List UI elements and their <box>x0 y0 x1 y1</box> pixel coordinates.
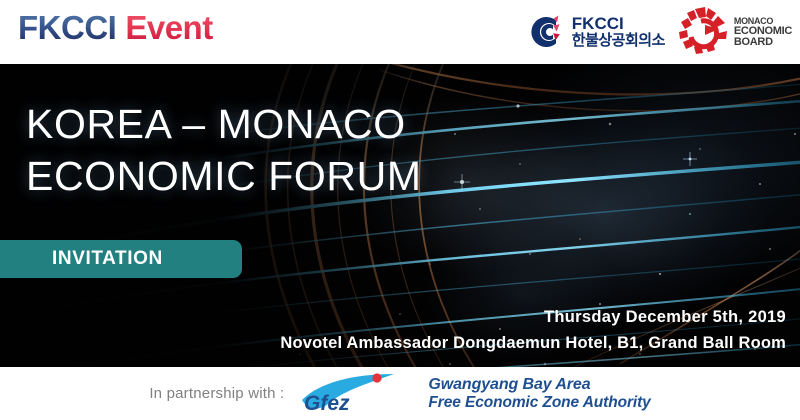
gfez-name-text: Gwangyang Bay Area Free Economic Zone Au… <box>428 376 650 411</box>
page-header: FKCCIEvent FKCCI 한불상공회의소 <box>0 0 800 64</box>
event-date: Thursday December 5th, 2019 <box>280 304 786 330</box>
fkcci-logo-line2: 한불상공회의소 <box>572 33 665 49</box>
gfez-name-line1: Gwangyang Bay Area <box>428 376 650 394</box>
event-venue: Novotel Ambassador Dongdaemun Hotel, B1,… <box>280 330 786 356</box>
invitation-badge[interactable]: INVITATION <box>0 240 242 278</box>
svg-text:Gfez: Gfez <box>304 392 350 415</box>
header-logo-group: FKCCI 한불상공회의소 <box>526 4 792 60</box>
monaco-economic-board-logo: MONACO ECONOMIC BOARD <box>675 5 792 60</box>
event-details: Thursday December 5th, 2019 Novotel Amba… <box>280 304 786 356</box>
title-line-2: ECONOMIC FORUM <box>26 150 422 202</box>
fkcci-logo-text: FKCCI 한불상공회의소 <box>572 15 665 49</box>
fkcci-circle-logo-icon <box>526 12 566 52</box>
fkcci-event-wordmark: FKCCIEvent <box>18 8 213 48</box>
brand-primary-text: FKCCI <box>18 9 116 46</box>
gfez-swoosh-logo-icon: Gfez <box>298 372 414 416</box>
fkcci-logo: FKCCI 한불상공회의소 <box>526 12 665 52</box>
gfez-name-line2: Free Economic Zone Authority <box>428 394 650 411</box>
monaco-logo-line3: BOARD <box>734 37 792 48</box>
page-title: KOREA – MONACO ECONOMIC FORUM <box>26 98 422 202</box>
invitation-badge-label: INVITATION <box>52 248 163 270</box>
monaco-economic-board-gear-logo-icon <box>675 5 731 60</box>
title-line-1: KOREA – MONACO <box>26 98 422 150</box>
hero-banner: KOREA – MONACO ECONOMIC FORUM INVITATION… <box>0 64 800 367</box>
brand-secondary-text: Event <box>125 9 212 46</box>
fkcci-logo-line1: FKCCI <box>572 15 665 33</box>
monaco-logo-text: MONACO ECONOMIC BOARD <box>734 17 792 48</box>
page-footer: In partnership with : Gfez Gwangyang Bay… <box>0 367 800 420</box>
event-invitation-banner: FKCCIEvent FKCCI 한불상공회의소 <box>0 0 800 420</box>
monaco-logo-line2: ECONOMIC <box>734 26 792 37</box>
partnership-label: In partnership with : <box>149 385 284 402</box>
